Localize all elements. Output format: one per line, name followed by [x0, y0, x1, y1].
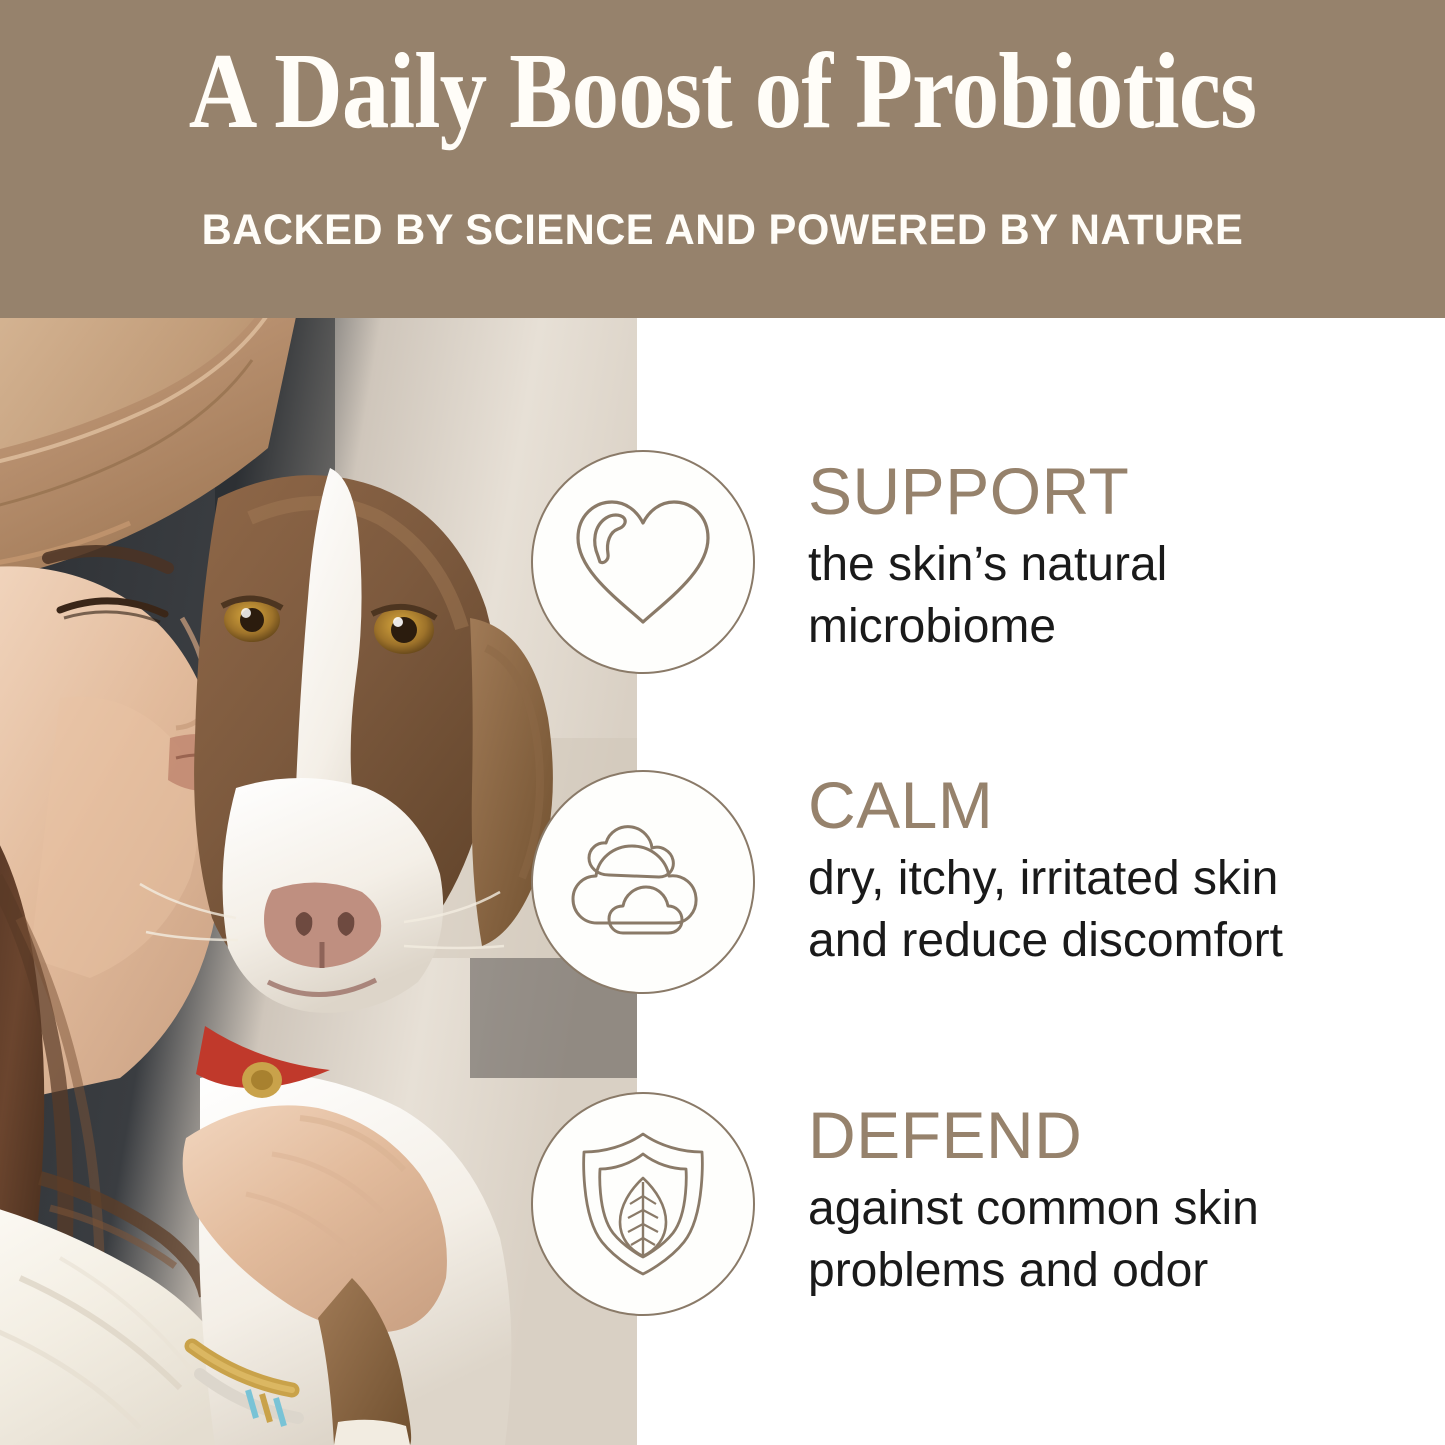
- clouds-icon: [531, 770, 755, 994]
- benefit-row: SUPPORT the skin’s natural microbiome: [0, 450, 1445, 690]
- page-subtitle: BACKED BY SCIENCE AND POWERED BY NATURE: [22, 205, 1424, 255]
- shield-leaf-icon: [531, 1092, 755, 1316]
- benefit-description-line: problems and odor: [808, 1240, 1418, 1302]
- benefit-title: DEFEND: [808, 1100, 1418, 1170]
- benefit-description-line: microbiome: [808, 596, 1418, 658]
- probiotics-infographic: A Daily Boost of Probiotics BACKED BY SC…: [0, 0, 1445, 1445]
- clouds-icon-glyph: [565, 819, 721, 945]
- benefit-text-block: SUPPORT the skin’s natural microbiome: [808, 456, 1418, 658]
- benefit-description: dry, itchy, irritated skin and reduce di…: [808, 848, 1418, 972]
- benefit-description-line: against common skin: [808, 1178, 1418, 1240]
- benefit-description-line: and reduce discomfort: [808, 910, 1418, 972]
- page-title: A Daily Boost of Probiotics: [87, 36, 1359, 148]
- benefit-row: DEFEND against common skin problems and …: [0, 1092, 1445, 1332]
- shield-leaf-icon-glyph: [572, 1128, 714, 1280]
- benefit-description-line: the skin’s natural: [808, 534, 1418, 596]
- benefit-title: CALM: [808, 770, 1418, 840]
- benefit-text-block: DEFEND against common skin problems and …: [808, 1100, 1418, 1302]
- header-band: A Daily Boost of Probiotics BACKED BY SC…: [0, 0, 1445, 318]
- benefit-description-line: dry, itchy, irritated skin: [808, 848, 1418, 910]
- benefit-title: SUPPORT: [808, 456, 1418, 526]
- heart-icon: [531, 450, 755, 674]
- benefit-description: the skin’s natural microbiome: [808, 534, 1418, 658]
- benefit-text-block: CALM dry, itchy, irritated skin and redu…: [808, 770, 1418, 972]
- heart-icon-glyph: [568, 494, 718, 630]
- benefit-description: against common skin problems and odor: [808, 1178, 1418, 1302]
- benefit-row: CALM dry, itchy, irritated skin and redu…: [0, 770, 1445, 1010]
